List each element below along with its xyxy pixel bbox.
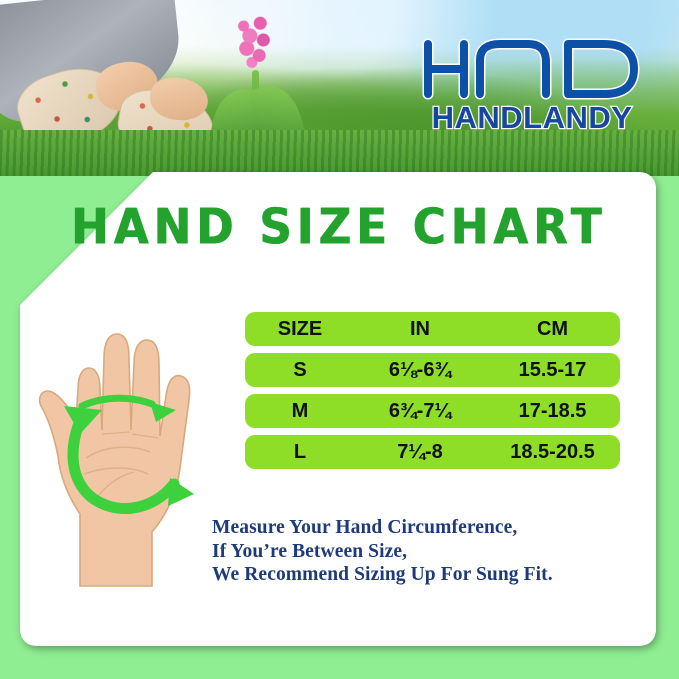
table-row: L 7¼-8 18.5-20.5 — [245, 435, 620, 469]
note-line-3: We Recommend Sizing Up For Sung Fit. — [212, 563, 553, 587]
cell-size: M — [245, 400, 355, 423]
table-row: S 6⅛-6¾ 15.5-17 — [245, 353, 620, 387]
logo-wordmark: HANDLANDY — [418, 101, 646, 135]
cell-in: 7¼-8 — [355, 441, 485, 464]
note-line-2: If You’re Between Size, — [212, 540, 553, 564]
brand-logo: HANDLANDY — [418, 36, 646, 140]
note-line-1: Measure Your Hand Circumference, — [212, 516, 553, 540]
table-header-row: SIZE IN CM — [245, 312, 620, 346]
column-header-size: SIZE — [245, 318, 355, 341]
table-row: M 6¾-7¼ 17-18.5 — [245, 394, 620, 428]
cell-in: 6¾-7¼ — [355, 400, 485, 423]
column-header-cm: CM — [485, 318, 620, 341]
cell-cm: 15.5-17 — [485, 359, 620, 382]
column-header-in: IN — [355, 318, 485, 341]
hand-illustration — [34, 318, 214, 598]
cell-cm: 17-18.5 — [485, 400, 620, 423]
cell-cm: 18.5-20.5 — [485, 441, 620, 464]
size-chart-table: SIZE IN CM S 6⅛-6¾ 15.5-17 M 6¾-7¼ 17-18… — [245, 312, 620, 476]
cell-in: 6⅛-6¾ — [355, 359, 485, 382]
cell-size: L — [245, 441, 355, 464]
hand-shape — [40, 334, 190, 586]
logo-mark-hld-icon — [418, 36, 646, 102]
cell-size: S — [245, 359, 355, 382]
measurement-note: Measure Your Hand Circumference, If You’… — [212, 516, 553, 587]
hyacinth-flower — [228, 12, 280, 82]
